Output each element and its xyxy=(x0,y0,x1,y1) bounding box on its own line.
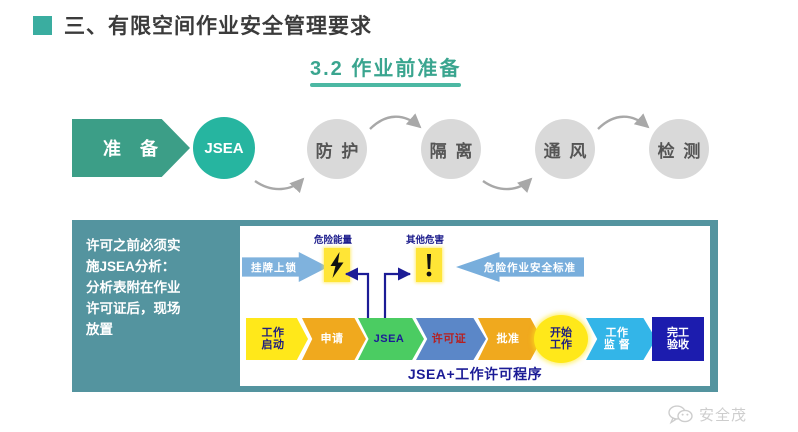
panel-note-line: 施JSEA分析： xyxy=(86,257,236,278)
flow-node-detection[interactable]: 检 测 xyxy=(649,119,709,179)
flow-banner-preparation: 准 备 xyxy=(72,119,190,177)
hazard-connectors xyxy=(240,226,710,386)
flow-node-label: 隔 离 xyxy=(428,137,475,162)
page-title: 三、有限空间作业安全管理要求 xyxy=(64,10,372,40)
bullet-square-icon xyxy=(33,16,52,35)
chain-step-start-work[interactable]: 开始工作 xyxy=(534,315,588,363)
chain-step-label: 完工验收 xyxy=(667,327,689,352)
watermark: 安全茂 xyxy=(668,404,747,425)
flow-node-ventilation[interactable]: 通 风 xyxy=(535,119,595,179)
flow-node-jsea[interactable]: JSEA xyxy=(193,117,255,179)
panel-note-line: 许可之前必须实 xyxy=(86,236,236,257)
chain-step-work-start[interactable]: 工作启动 xyxy=(246,318,308,360)
flow-node-label: JSEA xyxy=(204,140,243,157)
section-subtitle: 3.2 作业前准备 xyxy=(310,52,461,87)
chain-step-label: 许可证 xyxy=(432,333,471,345)
watermark-text: 安全茂 xyxy=(699,404,747,425)
jsea-diagram: 危险能量 其他危害 挂牌上锁 危险作业安全标准 xyxy=(240,226,710,386)
chain-step-label: 工作监 督 xyxy=(604,327,639,352)
chain-step-application[interactable]: 申请 xyxy=(302,318,366,360)
lockout-arrow: 挂牌上锁 xyxy=(242,252,328,282)
chain-step-label: 申请 xyxy=(321,333,348,345)
chain-step-label: 开始工作 xyxy=(550,327,572,352)
diagram-caption: JSEA+工作许可程序 xyxy=(240,364,710,384)
lockout-label: 挂牌上锁 xyxy=(242,260,297,275)
panel-note-line: 许可证后，现场 xyxy=(86,299,236,320)
flow-banner-label: 准 备 xyxy=(97,135,165,161)
preparation-flow: 准 备 JSEA 防 护 隔 离 通 风 检 测 xyxy=(0,103,798,195)
slide-canvas: 三、有限空间作业安全管理要求 3.2 作业前准备 准 备 JSEA 防 护 xyxy=(0,0,798,432)
safety-standard-label: 危险作业安全标准 xyxy=(484,260,584,275)
flow-node-label: 防 护 xyxy=(314,137,361,162)
chain-step-completion[interactable]: 完工验收 xyxy=(652,317,704,361)
flow-node-isolation[interactable]: 隔 离 xyxy=(421,119,481,179)
permit-process-chain: 工作启动 申请 JSEA 许可证 批准 开始工作 xyxy=(246,318,706,360)
page-header: 三、有限空间作业安全管理要求 xyxy=(33,10,372,40)
panel-note-line: 放置 xyxy=(86,320,236,341)
flow-node-protection[interactable]: 防 护 xyxy=(307,119,367,179)
chain-step-permit[interactable]: 许可证 xyxy=(416,318,486,360)
chain-step-approval[interactable]: 批准 xyxy=(478,318,542,360)
panel-note: 许可之前必须实 施JSEA分析： 分析表附在作业 许可证后，现场 放置 xyxy=(86,236,236,341)
chain-step-supervision[interactable]: 工作监 督 xyxy=(586,318,656,360)
wechat-icon xyxy=(668,405,694,425)
panel-note-line: 分析表附在作业 xyxy=(86,278,236,299)
caption-other-hazard: 其他危害 xyxy=(406,232,444,246)
lightning-bolt-glyph xyxy=(328,251,346,279)
chain-step-jsea[interactable]: JSEA xyxy=(358,318,424,360)
subtitle-label: 3.2 作业前准备 xyxy=(310,52,461,81)
flow-node-label: 检 测 xyxy=(656,137,703,162)
subtitle-underline xyxy=(310,83,461,87)
safety-standard-arrow: 危险作业安全标准 xyxy=(456,252,584,282)
exclamation-glyph xyxy=(422,251,436,279)
caption-hazard-energy: 危险能量 xyxy=(314,232,352,246)
chain-step-label: JSEA xyxy=(374,333,409,345)
lightning-bolt-icon xyxy=(324,248,350,282)
chain-step-label: 工作启动 xyxy=(262,327,293,352)
exclamation-mark-icon xyxy=(416,248,442,282)
chain-step-label: 批准 xyxy=(497,333,524,345)
flow-node-label: 通 风 xyxy=(542,137,589,162)
jsea-panel: 许可之前必须实 施JSEA分析： 分析表附在作业 许可证后，现场 放置 危险能量… xyxy=(72,220,718,392)
